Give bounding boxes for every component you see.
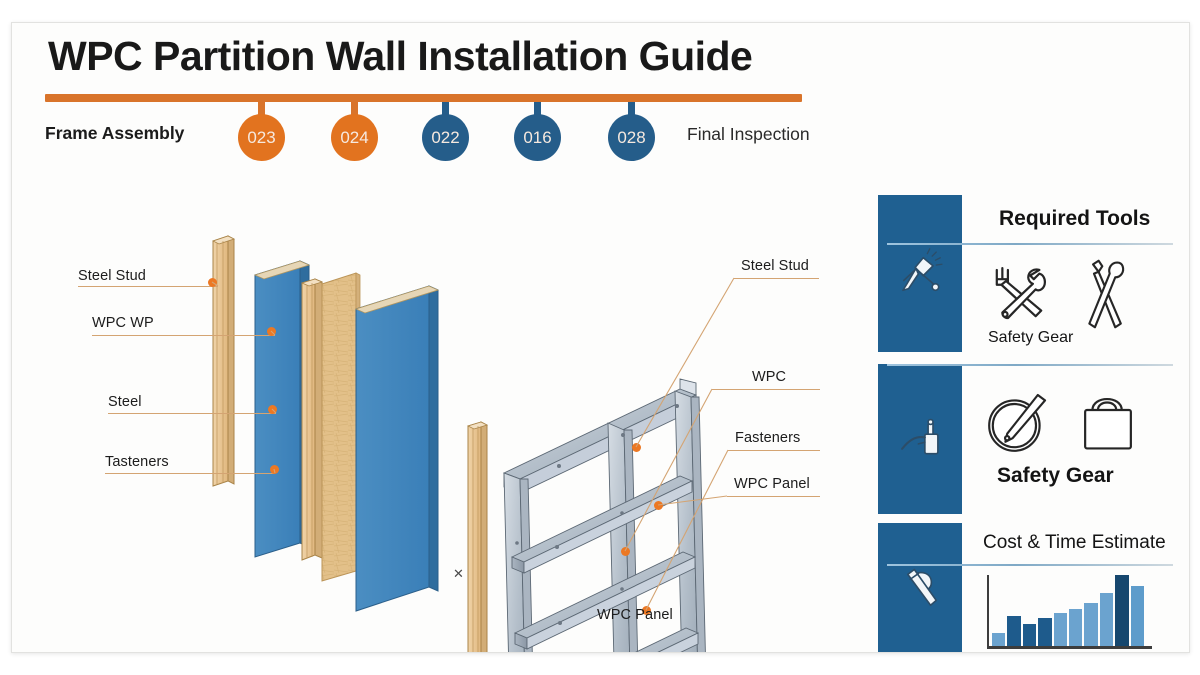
callout-leader-line (92, 335, 275, 336)
panel-title: Safety Gear (997, 464, 1114, 488)
timeline-bar (45, 94, 802, 102)
panel-divider (887, 364, 1173, 366)
steel-stud-middle (302, 279, 322, 560)
callout-dot (654, 501, 663, 510)
callout-dot (270, 465, 279, 474)
milestone-badge-024[interactable]: 024 (331, 114, 378, 161)
callout-dot (208, 278, 217, 287)
pliers-pair-icon (1078, 257, 1134, 331)
infographic-card: WPC Partition Wall Installation Guide 02… (11, 22, 1190, 653)
milestone-badge-028[interactable]: 028 (608, 114, 655, 161)
panel-icon-block (878, 364, 962, 514)
panel-icon-block (878, 523, 962, 653)
callout-leader-line (712, 389, 820, 390)
panel-divider (887, 564, 1173, 566)
callout-label-tasteners: Tasteners (105, 454, 169, 470)
panel-subtitle: Safety Gear (988, 329, 1073, 347)
panel-title: Required Tools (999, 207, 1150, 231)
saw-blade-icon (982, 386, 1054, 458)
chart-bar (1131, 586, 1144, 646)
chart-bar (1084, 603, 1097, 646)
callout-leader-line (727, 496, 820, 497)
callout-dot (632, 443, 641, 452)
alignment-mark-1: ✕ (453, 566, 464, 582)
wpc-core-board (322, 273, 360, 581)
chart-bar (1023, 624, 1036, 646)
panel-title: Cost & Time Estimate (983, 532, 1166, 554)
chart-y-axis (987, 575, 989, 649)
steel-stud-left (213, 236, 234, 486)
callout-leader-line (108, 413, 276, 414)
chart-bars (992, 575, 1144, 646)
callout-dot (267, 327, 276, 336)
callout-leader-line (728, 450, 820, 451)
wall-assembly-illustration (12, 183, 860, 653)
callout-label-wpc: WPC (752, 369, 786, 385)
timeline-end-label: Final Inspection (687, 124, 810, 145)
callout-label-steel: Steel (108, 394, 142, 410)
callout-label-wpc-panel: WPC Panel (734, 476, 810, 492)
panel-icon-block (878, 195, 962, 352)
callout-label-steel-stud: Steel Stud (78, 268, 146, 284)
sidebar-panel-safety-gear[interactable]: Safety Gear (869, 364, 1190, 514)
callout-label-wpc-wp: WPC WP (92, 315, 154, 331)
callout-dot (621, 547, 630, 556)
milestone-badge-023[interactable]: 023 (238, 114, 285, 161)
chart-x-axis (987, 646, 1152, 649)
chart-bar (1069, 609, 1082, 646)
cost-time-bar-chart (987, 575, 1152, 649)
milestone-badge-022[interactable]: 022 (422, 114, 469, 161)
wpc-panel-front (255, 261, 309, 557)
tool-icon-row (982, 257, 1134, 331)
sidebar-panel-cost-time-estimate[interactable]: Cost & Time Estimate (869, 523, 1190, 653)
caulk-gun-icon (894, 413, 946, 465)
wpc-panel-back (356, 286, 438, 611)
chart-bar (1007, 616, 1020, 646)
page-title: WPC Partition Wall Installation Guide (48, 33, 752, 80)
sidebar-panel-required-tools[interactable]: Required ToolsSafety Gear (869, 195, 1190, 352)
tool-icon-row (982, 384, 1140, 458)
chart-bar (992, 633, 1005, 646)
callout-leader-line (105, 473, 275, 474)
steel-stud-detached (468, 422, 487, 653)
timeline-start-label: Frame Assembly (45, 123, 184, 144)
panel-divider (887, 243, 1173, 245)
callout-dot (268, 405, 277, 414)
wrench-screwdriver-icon (982, 257, 1056, 331)
chart-bar (1100, 593, 1113, 646)
callout-leader-line (734, 278, 819, 279)
callout-label-fasteners: Fasteners (735, 430, 800, 446)
exploded-wall-diagram: ✕✕✕ Steel StudWPC WPSteelTasteners Steel… (12, 183, 860, 653)
pliers-icon (894, 248, 946, 300)
hard-hat-bag-icon (1076, 384, 1140, 458)
info-sidebar: Required ToolsSafety Gear Safety Gear (869, 23, 1190, 653)
callout-label-wpc-panel-bottom: WPC Panel (597, 607, 673, 623)
chart-bar (1054, 613, 1067, 646)
chart-bar (1038, 618, 1051, 646)
milestone-badge-016[interactable]: 016 (514, 114, 561, 161)
hammer-icon (894, 563, 946, 615)
callout-leader-line (78, 286, 218, 287)
callout-label-steel-stud: Steel Stud (741, 258, 809, 274)
chart-bar (1115, 575, 1128, 646)
